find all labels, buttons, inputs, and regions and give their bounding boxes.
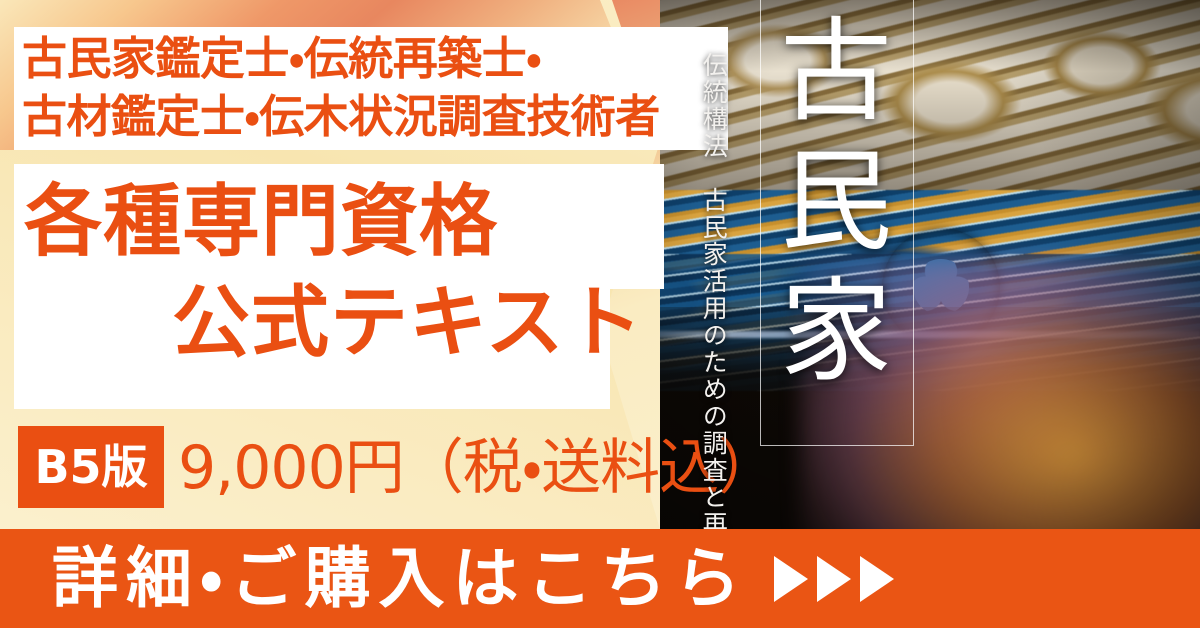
cover-title: 古 民 家 bbox=[766, 8, 906, 398]
cta-arrows bbox=[774, 556, 894, 602]
format-badge: B5版 bbox=[18, 426, 164, 508]
format-badge-label: B5版 bbox=[34, 444, 147, 490]
triangle-right-icon bbox=[817, 556, 851, 602]
cover-title-char-1: 古 bbox=[766, 8, 906, 138]
cta-label: 詳細・ご購入はこちら bbox=[52, 546, 748, 612]
triangle-right-icon bbox=[860, 556, 894, 602]
price-text: 9,000円（税・送料込） bbox=[178, 432, 777, 504]
headline-block: 古民家鑑定士・伝統再築士・ 古材鑑定士・伝木状況調査技術者 bbox=[22, 30, 722, 145]
triangle-right-icon bbox=[774, 556, 808, 602]
title-line-1: 各種専門資格 bbox=[24, 183, 498, 261]
cta-bar[interactable]: 詳細・ご購入はこちら bbox=[0, 529, 1200, 628]
cover-vertical-subtitle: 伝統構法 古民家活用のための調査と再生の bbox=[698, 52, 729, 552]
headline-line-1: 古民家鑑定士・伝統再築士・ bbox=[22, 30, 722, 88]
cover-title-char-2: 民 bbox=[766, 138, 906, 268]
promo-banner: 古民家鑑定士・伝統再築士・ 古材鑑定士・伝木状況調査技術者 各種専門資格 公式テ… bbox=[0, 0, 1200, 628]
title-line-2: 公式テキスト bbox=[172, 284, 644, 362]
cover-title-char-3: 家 bbox=[766, 268, 906, 398]
headline-line-2: 古材鑑定士・伝木状況調査技術者 bbox=[22, 88, 722, 146]
